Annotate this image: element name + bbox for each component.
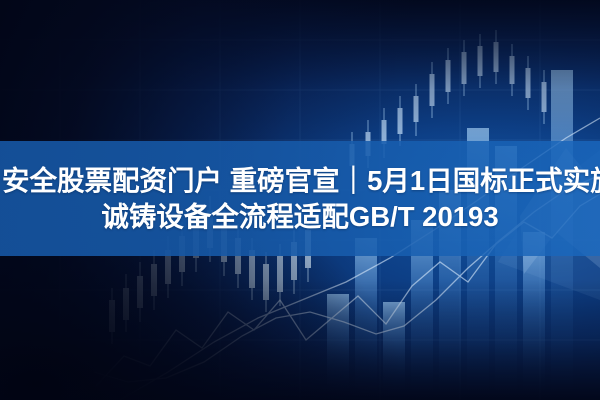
headline-line-1: 安全股票配资门户 重磅官宣｜5月1日国标正式实施！ [0, 166, 600, 196]
promotional-banner-image: 安全股票配资门户 重磅官宣｜5月1日国标正式实施！ 诚铸设备全流程适配GB/T … [0, 0, 600, 400]
headline-banner-band: 安全股票配资门户 重磅官宣｜5月1日国标正式实施！ 诚铸设备全流程适配GB/T … [0, 141, 600, 256]
headline-line-2: 诚铸设备全流程适配GB/T 20193 [0, 202, 600, 232]
